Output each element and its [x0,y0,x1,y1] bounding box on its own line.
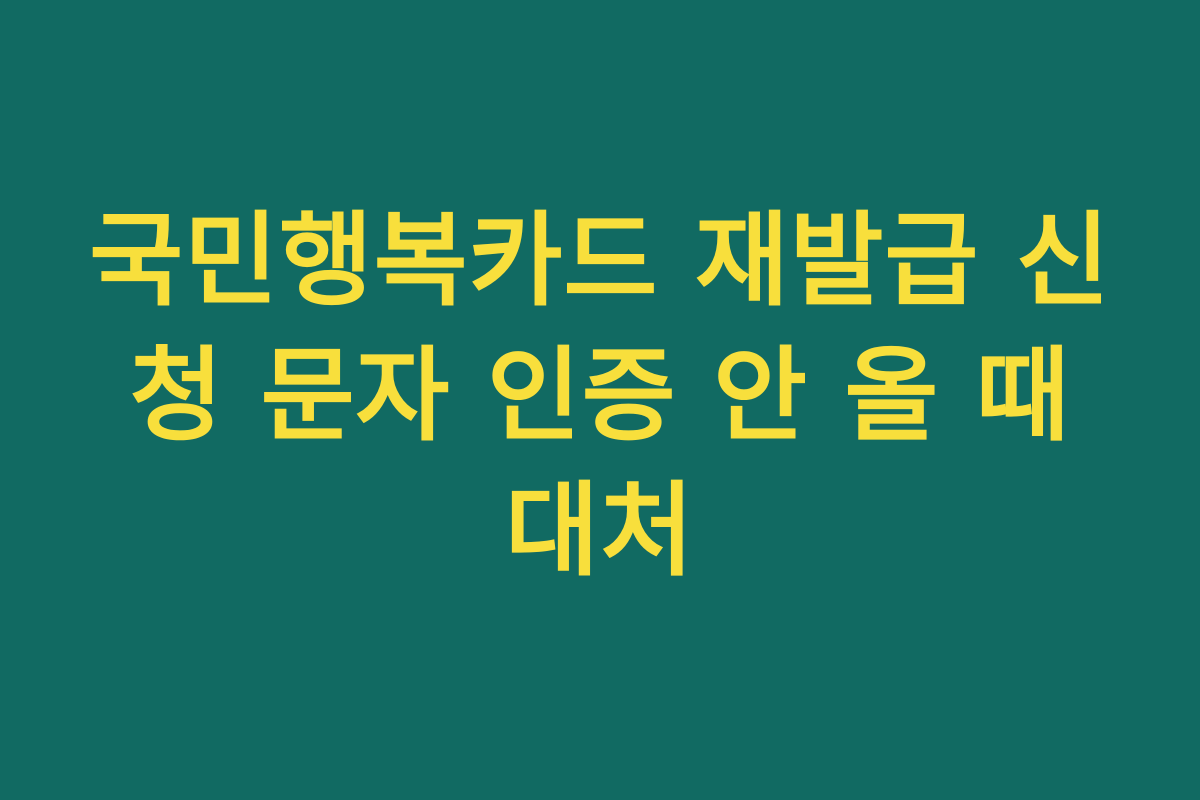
banner-title-line-1: 국민행복카드 재발급 신 [89,194,1110,329]
banner-title-line-3: 대처 [505,464,695,599]
banner-title-block: 국민행복카드 재발급 신 청 문자 인증 안 올 때 대처 [80,194,1120,599]
banner-title-line-2: 청 문자 인증 안 올 때 [129,329,1070,464]
banner-canvas: 국민행복카드 재발급 신 청 문자 인증 안 올 때 대처 [0,0,1200,800]
